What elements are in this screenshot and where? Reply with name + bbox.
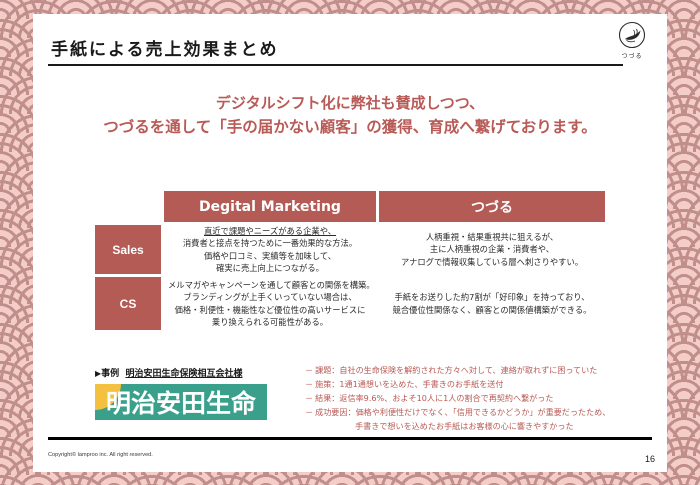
headline: デジタルシフト化に弊社も賛成しつつ、 つづるを通して「手の届かない顧客」の獲得、… xyxy=(33,92,667,139)
case-study-block: ▶事例 明治安田生命保険相互会社様 明治安田生命 xyxy=(95,366,267,420)
dash-icon: － xyxy=(305,407,313,417)
list-item: －課題：自社の生命保険を解約された方々へ対して、連絡が取れずに困っていた xyxy=(305,364,657,378)
case-study-label-text: 事例 xyxy=(101,369,119,379)
cell-line: ブランディングが上手くいっていない場合は、 xyxy=(168,291,372,303)
table-row: Sales 直近で課題やニーズがある企業や、 消費者と接点を持つために一番効果的… xyxy=(95,225,605,274)
cell-line: 価格や口コミ、実績等を加味して、 xyxy=(168,250,372,262)
bullet-continuation: 手書きで想いを込めたお手紙はお客様の心に響きやすかった xyxy=(305,420,657,434)
cell-line: 消費者と接点を持つために一番効果的な方法。 xyxy=(168,237,372,249)
cell-sales-tsuzuru: 人柄重視・結果重視共に狙えるが、 主に人柄重視の企業・消費者や、 アナログで情報… xyxy=(379,225,605,274)
cell-line: 主に人柄重視の企業・消費者や、 xyxy=(383,243,601,255)
logo-text: 明治安田生命 xyxy=(106,384,256,420)
list-item: －成功要因：価格や利便性だけでなく、「信用できるかどうか」が重要だったため、 手… xyxy=(305,406,657,434)
dash-icon: － xyxy=(305,365,313,375)
dash-icon: － xyxy=(305,379,313,389)
list-item: －結果：返信率9.6%、およそ10人に1人の割合で再契約へ繋がった xyxy=(305,392,657,406)
cell-line: 乗り換えられる可能性がある。 xyxy=(168,316,372,328)
case-study-company: 明治安田生命保険相互会社様 xyxy=(125,369,242,379)
bullet-text: 課題：自社の生命保険を解約された方々へ対して、連絡が取れずに困っていた xyxy=(315,365,597,375)
cell-line: メルマガやキャンペーンを通して顧客との関係を構築。 xyxy=(168,279,372,291)
meiji-yasuda-logo: 明治安田生命 xyxy=(95,384,267,420)
row-label-cs: CS xyxy=(95,277,161,330)
header-cell-spacer xyxy=(95,191,161,222)
dash-icon: － xyxy=(305,393,313,403)
comparison-table: Degital Marketing つづる Sales 直近で課題やニーズがある… xyxy=(95,191,605,330)
bullet-text: 結果：返信率9.6%、およそ10人に1人の割合で再契約へ繋がった xyxy=(315,393,553,403)
header-cell-tsuzuru: つづる xyxy=(379,191,605,222)
headline-line-1: デジタルシフト化に弊社も賛成しつつ、 xyxy=(33,92,667,115)
case-study-label: ▶事例 明治安田生命保険相互会社様 xyxy=(95,366,267,379)
bullet-text: 施策：1通1通想いを込めた、手書きのお手紙を送付 xyxy=(315,379,503,389)
cell-line: 競合優位性関係なく、顧客との関係値構築ができる。 xyxy=(383,304,601,316)
table-header-row: Degital Marketing つづる xyxy=(95,191,605,222)
cell-line: 確実に売上向上につながる。 xyxy=(168,262,372,274)
case-study-bullets: －課題：自社の生命保険を解約された方々へ対して、連絡が取れずに困っていた －施策… xyxy=(305,364,657,434)
title-divider xyxy=(48,64,623,66)
page-number: 16 xyxy=(645,454,655,464)
copyright-text: Copyright© lamproo inc. All right reserv… xyxy=(48,452,153,458)
bird-emblem-icon xyxy=(617,20,647,50)
cell-line: 価格・利便性・機能性など優位性の高いサービスに xyxy=(168,304,372,316)
bullet-text: 成功要因：価格や利便性だけでなく、「信用できるかどうか」が重要だったため、 xyxy=(315,407,610,417)
cell-cs-tsuzuru: 手紙をお送りした約7割が「好印象」を持っており、 競合優位性関係なく、顧客との関… xyxy=(379,277,605,330)
cell-line: 直近で課題やニーズがある企業や、 xyxy=(168,225,372,237)
cell-line: 人柄重視・結果重視共に狙えるが、 xyxy=(383,231,601,243)
table-row: CS メルマガやキャンペーンを通して顧客との関係を構築。 ブランディングが上手く… xyxy=(95,277,605,330)
headline-line-2: つづるを通して「手の届かない顧客」の獲得、育成へ繋げております。 xyxy=(33,115,667,139)
page-title: 手紙による売上効果まとめ xyxy=(51,35,279,60)
slide-canvas: 手紙による売上効果まとめ つづる デジタルシフト化に弊社も賛成しつつ、 つづるを… xyxy=(33,14,667,472)
cell-cs-digital-marketing: メルマガやキャンペーンを通して顧客との関係を構築。 ブランディングが上手くいって… xyxy=(164,277,376,330)
cell-sales-digital-marketing: 直近で課題やニーズがある企業や、 消費者と接点を持つために一番効果的な方法。 価… xyxy=(164,225,376,274)
brand-logo: つづる xyxy=(609,20,655,60)
footer-divider xyxy=(48,437,652,440)
row-label-sales: Sales xyxy=(95,225,161,274)
header-cell-digital-marketing: Degital Marketing xyxy=(164,191,376,222)
brand-name-label: つづる xyxy=(609,51,655,60)
list-item: －施策：1通1通想いを込めた、手書きのお手紙を送付 xyxy=(305,378,657,392)
cell-line: アナログで情報収集している層へ刺さりやすい。 xyxy=(383,256,601,268)
cell-line: 手紙をお送りした約7割が「好印象」を持っており、 xyxy=(383,291,601,303)
